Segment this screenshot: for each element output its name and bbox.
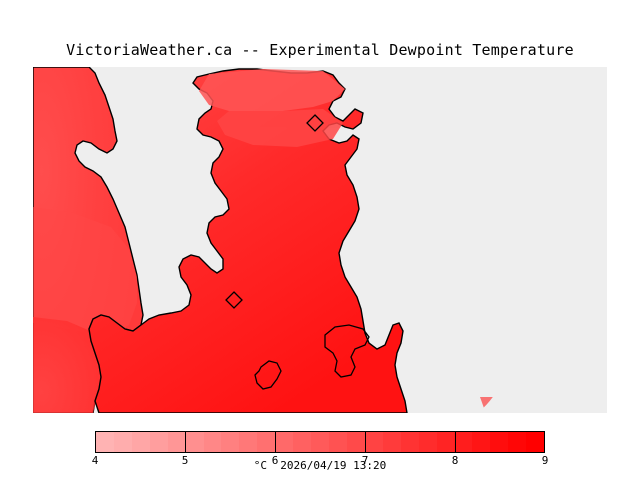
weather-map-app: VictoriaWeather.ca -- Experimental Dewpo…: [0, 0, 640, 480]
colorbar-swatch-8: [239, 432, 257, 452]
colorbar-swatch-19: [437, 432, 455, 452]
colorbar-swatch-15: [365, 432, 383, 452]
colorbar-caption: °C 2026/04/19 13:20: [0, 459, 640, 472]
colorbar-swatch-16: [383, 432, 401, 452]
map-panel[interactable]: [33, 67, 607, 413]
colorbar-gradient: [95, 431, 545, 453]
colorbar: 456789: [95, 431, 545, 453]
colorbar-swatch-7: [221, 432, 239, 452]
colorbar-swatch-5: [186, 432, 204, 452]
colorbar-swatch-24: [526, 432, 544, 452]
colorbar-swatch-22: [490, 432, 508, 452]
colorbar-tick-5: [185, 431, 186, 453]
colorbar-swatch-17: [401, 432, 419, 452]
colorbar-swatch-23: [508, 432, 526, 452]
colorbar-swatch-9: [257, 432, 275, 452]
colorbar-swatch-21: [472, 432, 490, 452]
colorbar-swatch-10: [275, 432, 293, 452]
page-title: VictoriaWeather.ca -- Experimental Dewpo…: [0, 41, 640, 59]
colorbar-swatch-0: [96, 432, 114, 452]
colorbar-tick-7: [365, 431, 366, 453]
colorbar-swatch-4: [168, 432, 186, 452]
colorbar-swatch-3: [150, 432, 168, 452]
colorbar-swatch-14: [347, 432, 365, 452]
colorbar-swatch-1: [114, 432, 132, 452]
colorbar-swatch-2: [132, 432, 150, 452]
colorbar-swatch-12: [311, 432, 329, 452]
colorbar-swatch-6: [204, 432, 222, 452]
dewpoint-temperature-map[interactable]: [33, 67, 607, 413]
colorbar-swatch-18: [419, 432, 437, 452]
colorbar-swatch-11: [293, 432, 311, 452]
colorbar-tick-6: [275, 431, 276, 453]
colorbar-tick-8: [455, 431, 456, 453]
colorbar-swatch-20: [454, 432, 472, 452]
colorbar-swatch-13: [329, 432, 347, 452]
